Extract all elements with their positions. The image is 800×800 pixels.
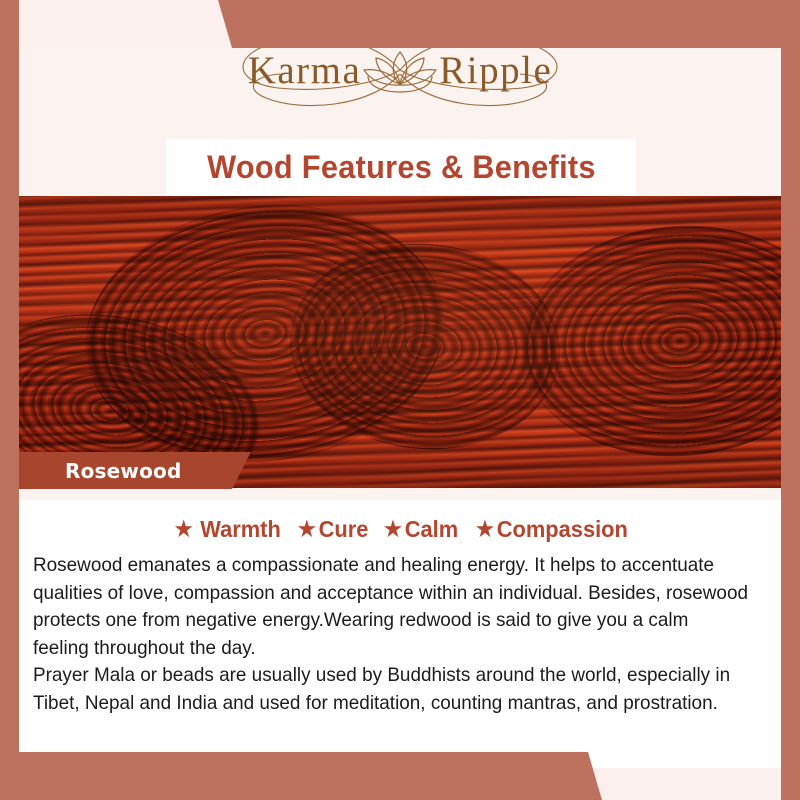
title-banner: Wood Features & Benefits [166, 139, 636, 196]
description-paragraph-2: Prayer Mala or beads are usually used by… [33, 662, 749, 717]
description-block: Rosewood emanates a compassionate and he… [27, 552, 777, 717]
star-icon: ★ [175, 519, 193, 540]
star-icon: ★ [476, 519, 494, 540]
description-paragraph-1: Rosewood emanates a compassionate and he… [33, 552, 749, 662]
brand-word-left: Karma [248, 51, 362, 90]
wood-name-label: Rosewood [65, 459, 181, 483]
frame-band-right [781, 0, 800, 800]
rosewood-image [0, 196, 800, 488]
keyword-compassion: ★ Compassion [476, 516, 628, 543]
page-title: Wood Features & Benefits [207, 149, 596, 186]
keyword-list: ★ Warmth ★ Cure ★ Calm ★ Compassion [27, 516, 777, 543]
wood-shading-layer [0, 196, 800, 488]
star-icon: ★ [384, 519, 402, 540]
keyword-label: Cure [318, 516, 368, 543]
brand-word-right: Ripple [439, 51, 552, 90]
keyword-label: Warmth [200, 516, 281, 543]
frame-band-left [0, 0, 19, 800]
keyword-warmth: ★ Warmth [175, 516, 281, 543]
wood-name-badge: Rosewood [19, 452, 251, 489]
infographic-page: Karma Ripple Wood Features & Benefits Ro… [0, 0, 800, 800]
keyword-cure: ★ Cure [298, 516, 369, 543]
content-panel: ★ Warmth ★ Cure ★ Calm ★ Compassion Rose… [19, 500, 781, 768]
keyword-label: Calm [405, 516, 458, 543]
star-icon: ★ [298, 519, 316, 540]
keyword-calm: ★ Calm [384, 516, 458, 543]
keyword-label: Compassion [497, 516, 628, 543]
